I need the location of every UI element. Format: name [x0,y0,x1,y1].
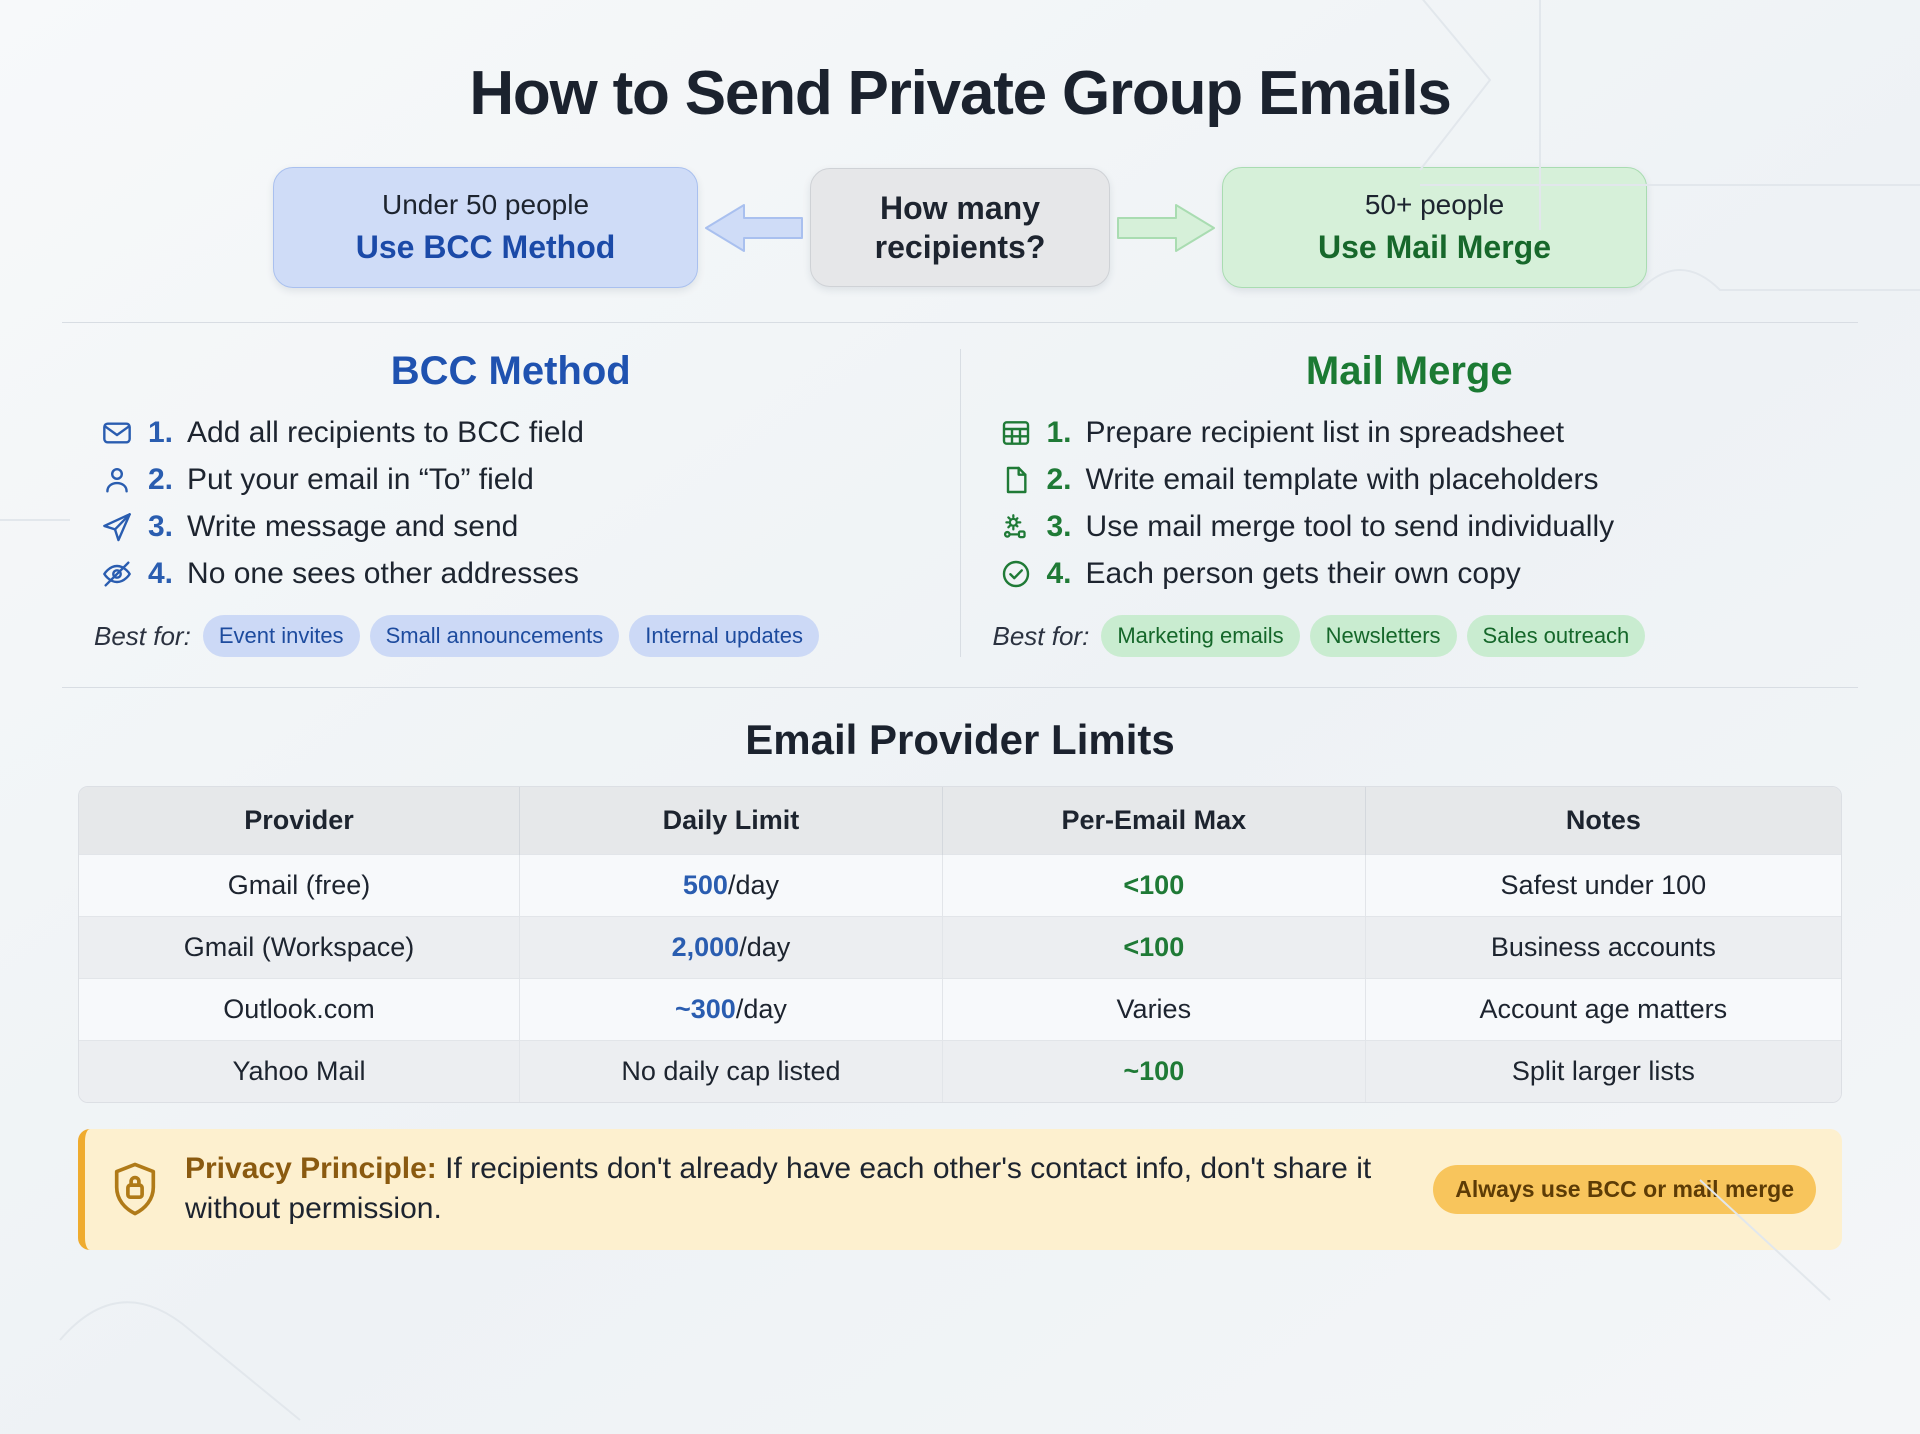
bcc-column: BCC Method 1. Add all recipients to BCC … [62,349,961,657]
bcc-chip-2[interactable]: Small announcements [370,615,620,657]
eye-off-icon [100,557,134,591]
decision-flow: Under 50 people Use BCC Method How many … [0,167,1920,288]
col-header-per-email-max: Per-Email Max [942,787,1365,855]
daily-limit-number: 2,000 [672,932,740,962]
mailmerge-step-2-number: 2. [1047,463,1072,497]
person-icon [100,463,134,497]
bcc-step-2-text: Put your email in “To” field [187,463,534,497]
mailmerge-step-2: 2. Write email template with placeholder… [999,463,1845,497]
privacy-principle-label: Privacy Principle: [185,1152,437,1185]
mailmerge-step-3-number: 3. [1047,510,1072,544]
cell-daily-limit: No daily cap listed [520,1041,943,1103]
mailmerge-step-1-number: 1. [1047,416,1072,450]
daily-limit-suffix: /day [728,870,779,900]
daily-limit-number: 500 [683,870,728,900]
arrow-left-icon [704,199,804,257]
envelope-icon [100,416,134,450]
bcc-step-4-text: No one sees other addresses [187,557,579,591]
table-row: Gmail (free) 500/day <100 Safest under 1… [79,855,1841,917]
mailmerge-heading: Mail Merge [975,349,1845,394]
privacy-principle-text: Privacy Principle: If recipients don't a… [185,1149,1411,1229]
col-header-notes: Notes [1365,787,1841,855]
daily-limit-number: ~300 [675,994,736,1024]
bcc-step-3: 3. Write message and send [100,510,946,544]
daily-limit-suffix: /day [739,932,790,962]
bcc-step-3-number: 3. [148,510,173,544]
cell-daily-limit: ~300/day [520,979,943,1041]
bcc-step-4-number: 4. [148,557,173,591]
gears-icon [999,510,1033,544]
bcc-step-3-text: Write message and send [187,510,518,544]
provider-limits-table: Provider Daily Limit Per-Email Max Notes… [79,787,1841,1102]
check-circle-icon [999,557,1033,591]
cell-per-email-max: <100 [942,855,1365,917]
cell-provider: Gmail (Workspace) [79,917,520,979]
cell-per-email-max: Varies [942,979,1365,1041]
send-icon [100,510,134,544]
daily-limit-suffix: /day [736,994,787,1024]
decision-box-question[interactable]: How many recipients? [810,168,1110,287]
decision-box-bcc-action: Use BCC Method [300,228,671,267]
page-title: How to Send Private Group Emails [0,0,1920,129]
col-header-provider: Provider [79,787,520,855]
mailmerge-best-for: Best for: Marketing emails Newsletters S… [993,615,1845,657]
decision-box-mailmerge-condition: 50+ people [1249,188,1620,222]
bcc-best-for: Best for: Event invites Small announceme… [94,615,946,657]
methods-columns: BCC Method 1. Add all recipients to BCC … [0,349,1920,657]
cell-provider: Yahoo Mail [79,1041,520,1103]
spreadsheet-icon [999,416,1033,450]
bcc-chip-1[interactable]: Event invites [203,615,360,657]
bcc-step-1-number: 1. [148,416,173,450]
decision-box-mailmerge[interactable]: 50+ people Use Mail Merge [1222,167,1647,288]
decision-box-bcc[interactable]: Under 50 people Use BCC Method [273,167,698,288]
question-line-1: How many [837,189,1083,227]
mailmerge-chip-3[interactable]: Sales outreach [1467,615,1646,657]
table-row: Yahoo Mail No daily cap listed ~100 Spli… [79,1041,1841,1103]
mailmerge-step-3: 3. Use mail merge tool to send individua… [999,510,1845,544]
infographic-page: How to Send Private Group Emails Under 5… [0,0,1920,1434]
arrow-left-container [698,199,810,257]
cell-notes: Business accounts [1365,917,1841,979]
mailmerge-best-for-label: Best for: [993,621,1090,652]
cell-notes: Account age matters [1365,979,1841,1041]
mailmerge-step-3-text: Use mail merge tool to send individually [1086,510,1615,544]
decision-box-bcc-condition: Under 50 people [300,188,671,222]
cell-provider: Outlook.com [79,979,520,1041]
table-header-row: Provider Daily Limit Per-Email Max Notes [79,787,1841,855]
divider-bottom [62,687,1858,688]
bcc-heading: BCC Method [76,349,946,394]
mailmerge-step-4-number: 4. [1047,557,1072,591]
mailmerge-column: Mail Merge 1. Prepare recipient list in … [961,349,1859,657]
mailmerge-step-1-text: Prepare recipient list in spreadsheet [1086,416,1565,450]
bcc-step-1: 1. Add all recipients to BCC field [100,416,946,450]
bcc-step-4: 4. No one sees other addresses [100,557,946,591]
cell-per-email-max: ~100 [942,1041,1365,1103]
question-line-2: recipients? [837,228,1083,266]
cell-notes: Split larger lists [1365,1041,1841,1103]
cell-daily-limit: 500/day [520,855,943,917]
divider-top [62,322,1858,323]
cell-notes: Safest under 100 [1365,855,1841,917]
mailmerge-chip-2[interactable]: Newsletters [1310,615,1457,657]
arrow-right-icon [1116,199,1216,257]
status-badge: Always use BCC or mail merge [1433,1165,1816,1214]
mailmerge-step-2-text: Write email template with placeholders [1086,463,1599,497]
mailmerge-step-4-text: Each person gets their own copy [1086,557,1521,591]
col-header-daily-limit: Daily Limit [520,787,943,855]
bcc-step-1-text: Add all recipients to BCC field [187,416,584,450]
document-icon [999,463,1033,497]
shield-lock-icon [107,1161,163,1217]
mailmerge-chip-1[interactable]: Marketing emails [1101,615,1299,657]
cell-provider: Gmail (free) [79,855,520,917]
bcc-best-for-label: Best for: [94,621,191,652]
daily-limit-suffix: No daily cap listed [621,1056,840,1086]
provider-limits-table-wrapper: Provider Daily Limit Per-Email Max Notes… [78,786,1842,1103]
decision-box-mailmerge-action: Use Mail Merge [1249,228,1620,267]
privacy-principle-banner: Privacy Principle: If recipients don't a… [78,1129,1842,1249]
mailmerge-step-4: 4. Each person gets their own copy [999,557,1845,591]
cell-daily-limit: 2,000/day [520,917,943,979]
cell-per-email-max: <100 [942,917,1365,979]
bcc-step-2: 2. Put your email in “To” field [100,463,946,497]
arrow-right-container [1110,199,1222,257]
table-row: Outlook.com ~300/day Varies Account age … [79,979,1841,1041]
mailmerge-step-1: 1. Prepare recipient list in spreadsheet [999,416,1845,450]
table-row: Gmail (Workspace) 2,000/day <100 Busines… [79,917,1841,979]
table-title: Email Provider Limits [0,716,1920,764]
bcc-step-2-number: 2. [148,463,173,497]
bcc-chip-3[interactable]: Internal updates [629,615,819,657]
